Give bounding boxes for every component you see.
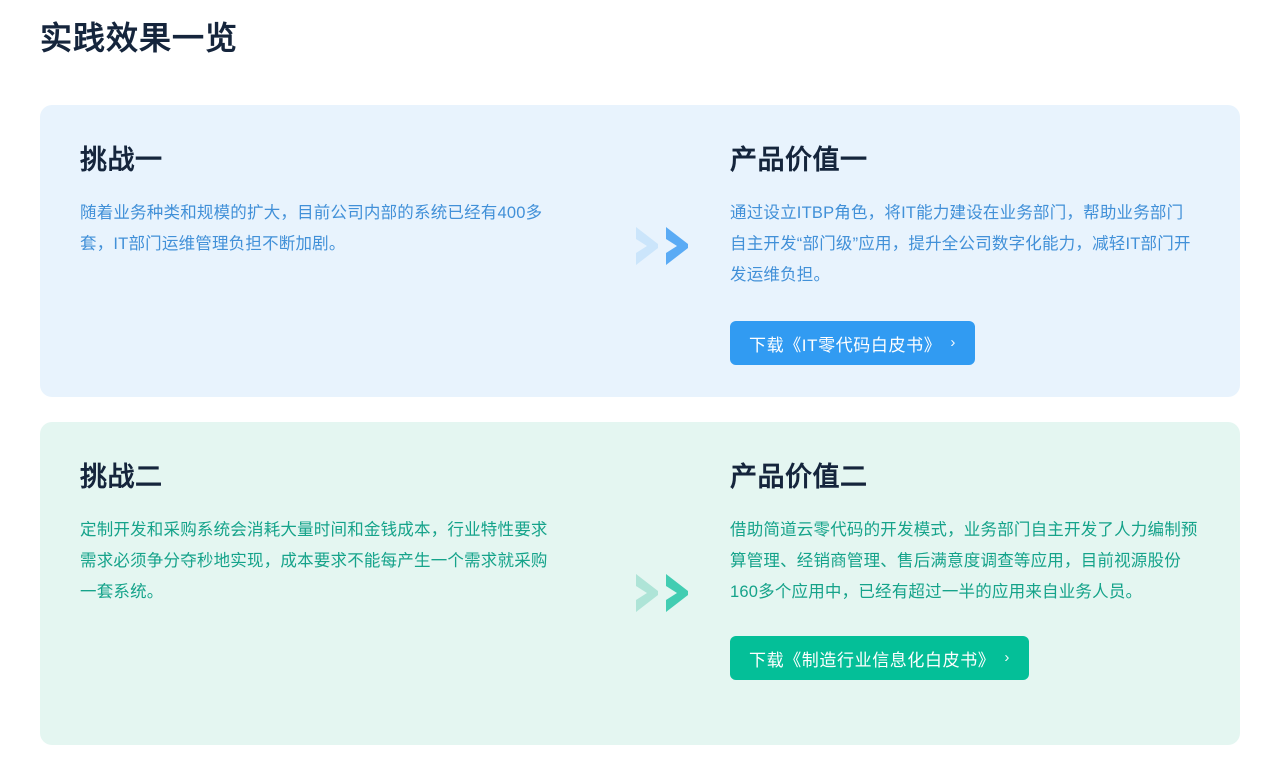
arrow-column-one <box>592 105 730 267</box>
challenge-body-one: 随着业务种类和规模的扩大，目前公司内部的系统已经有400多套，IT部门运维管理负… <box>80 198 560 260</box>
challenge-column-one: 挑战一 随着业务种类和规模的扩大，目前公司内部的系统已经有400多套，IT部门运… <box>40 105 592 260</box>
practice-card-two: 挑战二 定制开发和采购系统会消耗大量时间和金钱成本，行业特性要求需求必须争分夺秒… <box>40 422 1240 745</box>
chevron-right-icon: › <box>1004 650 1010 665</box>
arrow-column-two <box>592 422 730 614</box>
challenge-heading-two: 挑战二 <box>80 460 592 495</box>
download-button-label-one: 下载《IT零代码白皮书》 <box>749 331 941 356</box>
value-column-one: 产品价值一 通过设立ITBP角色，将IT能力建设在业务部门，帮助业务部门自主开发… <box>730 105 1240 365</box>
practice-results-page: 实践效果一览 挑战一 随着业务种类和规模的扩大，目前公司内部的系统已经有400多… <box>0 0 1281 774</box>
page-title: 实践效果一览 <box>40 18 238 60</box>
value-heading-two: 产品价值二 <box>730 460 1200 495</box>
download-button-label-two: 下载《制造行业信息化白皮书》 <box>749 646 995 671</box>
double-chevron-right-icon <box>633 225 690 267</box>
double-chevron-right-icon <box>633 572 690 614</box>
challenge-column-two: 挑战二 定制开发和采购系统会消耗大量时间和金钱成本，行业特性要求需求必须争分夺秒… <box>40 422 592 608</box>
value-body-two: 借助简道云零代码的开发模式，业务部门自主开发了人力编制预算管理、经销商管理、售后… <box>730 515 1200 608</box>
value-column-two: 产品价值二 借助简道云零代码的开发模式，业务部门自主开发了人力编制预算管理、经销… <box>730 422 1240 680</box>
value-body-one: 通过设立ITBP角色，将IT能力建设在业务部门，帮助业务部门自主开发“部门级”应… <box>730 198 1200 291</box>
chevron-right-icon: › <box>950 335 956 350</box>
chevron-right-light-icon <box>633 225 660 267</box>
practice-card-one: 挑战一 随着业务种类和规模的扩大，目前公司内部的系统已经有400多套，IT部门运… <box>40 105 1240 397</box>
challenge-heading-one: 挑战一 <box>80 143 592 178</box>
value-heading-one: 产品价值一 <box>730 143 1200 178</box>
chevron-right-light-icon <box>633 572 660 614</box>
challenge-body-two: 定制开发和采购系统会消耗大量时间和金钱成本，行业特性要求需求必须争分夺秒地实现，… <box>80 515 560 608</box>
download-it-zero-code-whitepaper-button[interactable]: 下载《IT零代码白皮书》 › <box>730 321 975 365</box>
download-manufacturing-informatization-whitepaper-button[interactable]: 下载《制造行业信息化白皮书》 › <box>730 636 1029 680</box>
chevron-right-dark-icon <box>663 572 690 614</box>
chevron-right-dark-icon <box>663 225 690 267</box>
